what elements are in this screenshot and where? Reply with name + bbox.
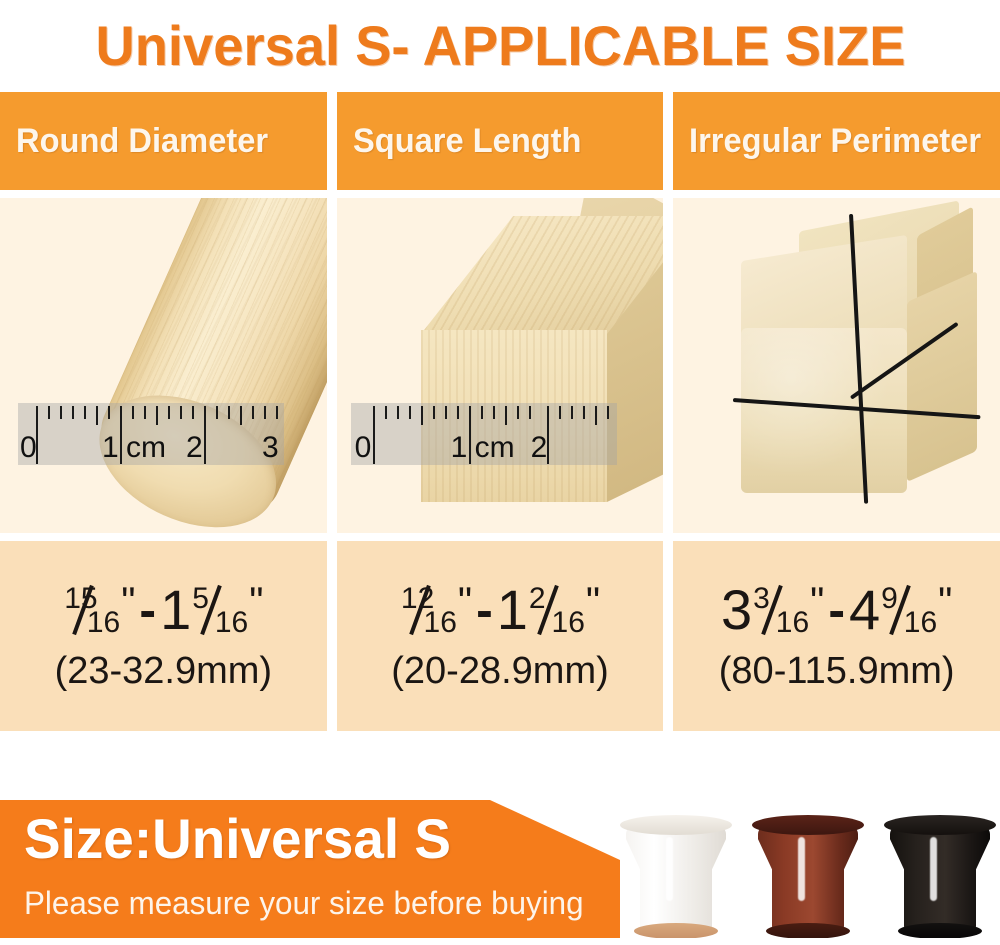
range-dash: -: [476, 585, 493, 635]
page-title: Universal S- APPLICABLE SIZE: [95, 18, 905, 74]
ruler-tick-half: [96, 406, 98, 425]
inch-mark: ": [586, 582, 600, 622]
row-divider: [0, 533, 1000, 541]
ruler-label-cm: cm: [126, 433, 166, 463]
column-divider: [663, 198, 673, 533]
ruler-tick-half: [595, 406, 597, 425]
range-dash: -: [828, 585, 845, 635]
ruler-tick-minor: [517, 406, 519, 419]
ruler-tick-minor: [571, 406, 573, 419]
fraction-denominator: 16: [424, 608, 457, 638]
ruler-tick-minor: [385, 406, 387, 419]
banner-title: Size:Universal S: [24, 811, 451, 867]
ruler-tick-minor: [433, 406, 435, 419]
ruler-tick-half: [421, 406, 423, 425]
fraction-min: 12 16: [401, 582, 455, 638]
ruler-label-2: 2: [186, 433, 203, 463]
cap-rim: [884, 815, 996, 835]
cap-rim: [752, 815, 864, 835]
ruler-tick-minor: [276, 406, 278, 419]
column-header-irregular-perimeter: Irregular Perimeter: [673, 92, 1000, 190]
inch-whole-max: 4: [849, 582, 880, 638]
cap-base: [766, 923, 850, 939]
fraction-min: 3 16: [753, 582, 807, 638]
ruler-tick-minor: [559, 406, 561, 419]
inch-whole-max: 1: [497, 582, 528, 638]
value-cell-square-length: 12 16 " - 1 2 16 " (20-28.9mm): [337, 541, 664, 731]
fraction-max: 2 16: [529, 582, 583, 638]
photo-irregular-perimeter: [673, 198, 1000, 533]
mm-range-square: (20-28.9mm): [391, 652, 609, 690]
cap-highlight: [930, 837, 937, 901]
inch-mark: ": [458, 582, 472, 622]
ruler-tick-minor: [192, 406, 194, 419]
ruler-label-0: 0: [20, 433, 37, 463]
column-header-label: Square Length: [353, 122, 582, 161]
ruler-ticks: [18, 406, 284, 432]
ruler-tick-minor: [409, 406, 411, 419]
ruler-tick-minor: [397, 406, 399, 419]
ruler-tick-minor: [84, 406, 86, 419]
value-cell-irregular-perimeter: 3 3 16 " - 4 9 16 " (80-115.9mm): [673, 541, 1000, 731]
column-divider: [327, 92, 337, 190]
bottom-white-strip: [0, 938, 1000, 945]
ruler-tick-minor: [144, 406, 146, 419]
ruler-tick-minor: [216, 406, 218, 419]
inch-whole-min: 3: [721, 582, 752, 638]
column-header-square-length: Square Length: [337, 92, 664, 190]
cap-base: [898, 923, 982, 939]
ruler-label-1: 1: [451, 433, 468, 463]
ruler-tick-minor: [108, 406, 110, 419]
ruler-tick-minor: [60, 406, 62, 419]
ruler-tick-minor: [228, 406, 230, 419]
fraction-max: 9 16: [881, 582, 935, 638]
inch-range-round: 15 16 " - 1 5 16 ": [63, 582, 263, 638]
clear-chair-leg-cap: [620, 815, 732, 937]
column-header-label: Irregular Perimeter: [689, 122, 981, 161]
fraction-denominator: 16: [215, 608, 248, 638]
round-dowel-image: [80, 198, 326, 533]
cap-rim: [620, 815, 732, 835]
ruler-tick-minor: [583, 406, 585, 419]
cap-base: [634, 923, 718, 939]
irregular-block-image: [721, 208, 971, 508]
ruler-tick-half: [240, 406, 242, 425]
column-divider: [663, 92, 673, 190]
ruler-tick-minor: [264, 406, 266, 419]
ruler-tick-minor: [457, 406, 459, 419]
ruler-tick-minor: [529, 406, 531, 419]
photo-round-diameter: 0 1 cm 2 3: [0, 198, 327, 533]
ruler-tick-minor: [607, 406, 609, 419]
brown-chair-leg-cap: [752, 815, 864, 937]
ruler-overlay-square: 0 1 cm 2: [351, 403, 617, 465]
ruler-label-2: 2: [531, 433, 548, 463]
fraction-numerator: 5: [192, 584, 209, 614]
fraction-max: 5 16: [192, 582, 246, 638]
column-divider: [327, 198, 337, 533]
ruler-tick-minor: [48, 406, 50, 419]
table-header-row: Round Diameter Square Length Irregular P…: [0, 92, 1000, 190]
fraction-numerator: 2: [529, 584, 546, 614]
page-title-bar: Universal S- APPLICABLE SIZE: [0, 0, 1000, 92]
ruler-tick-minor: [493, 406, 495, 419]
ruler-tick-minor: [168, 406, 170, 419]
fraction-denominator: 16: [904, 608, 937, 638]
inch-mark: ": [810, 582, 824, 622]
ruler-label-1: 1: [102, 433, 119, 463]
ruler-ticks: [351, 406, 617, 432]
table-value-row: 15 16 " - 1 5 16 " (23-32.9mm): [0, 541, 1000, 731]
square-post-image: [377, 212, 657, 512]
ruler-tick-half: [156, 406, 158, 425]
column-header-label: Round Diameter: [16, 122, 268, 161]
inch-whole-max: 1: [160, 582, 191, 638]
ruler-tick-minor: [445, 406, 447, 419]
ruler-label-cm: cm: [475, 433, 515, 463]
cap-body: [890, 824, 990, 932]
inch-mark: ": [121, 582, 135, 622]
ruler-numbers: 0 1 cm 2 3: [18, 431, 284, 463]
ruler-tick-minor: [252, 406, 254, 419]
fraction-denominator: 16: [87, 608, 120, 638]
inch-mark: ": [249, 582, 263, 622]
cap-body: [626, 824, 726, 932]
ruler-numbers: 0 1 cm 2: [351, 431, 617, 463]
mm-range-irregular: (80-115.9mm): [719, 652, 955, 690]
block-right-face: [907, 271, 977, 482]
table-photo-row: 0 1 cm 2 3: [0, 198, 1000, 533]
ruler-tick-minor: [72, 406, 74, 419]
cap-highlight: [798, 837, 805, 901]
inch-range-square: 12 16 " - 1 2 16 ": [400, 582, 600, 638]
mm-range-round: (23-32.9mm): [55, 652, 273, 690]
photo-square-length: 0 1 cm 2: [337, 198, 664, 533]
column-divider: [327, 541, 337, 731]
ruler-tick-minor: [481, 406, 483, 419]
ruler-label-3: 3: [262, 433, 279, 463]
fraction-min: 15 16: [64, 582, 118, 638]
fraction-numerator: 9: [881, 584, 898, 614]
fraction-denominator: 16: [776, 608, 809, 638]
fraction-numerator: 3: [753, 584, 770, 614]
black-chair-leg-cap: [884, 815, 996, 937]
cap-highlight: [666, 837, 673, 901]
ruler-tick-minor: [132, 406, 134, 419]
range-dash: -: [139, 585, 156, 635]
value-cell-round-diameter: 15 16 " - 1 5 16 " (23-32.9mm): [0, 541, 327, 731]
fraction-denominator: 16: [552, 608, 585, 638]
product-photos: [612, 801, 1000, 939]
banner-subtitle: Please measure your size before buying: [24, 887, 584, 919]
inch-range-irregular: 3 3 16 " - 4 9 16 ": [721, 582, 952, 638]
applicable-size-table: Round Diameter Square Length Irregular P…: [0, 92, 1000, 731]
column-header-round-diameter: Round Diameter: [0, 92, 327, 190]
row-divider: [0, 190, 1000, 198]
ruler-tick-minor: [180, 406, 182, 419]
bottom-section: Size:Universal S Please measure your siz…: [0, 795, 1000, 945]
ruler-overlay-round: 0 1 cm 2 3: [18, 403, 284, 465]
ruler-label-0: 0: [355, 433, 372, 463]
column-divider: [663, 541, 673, 731]
inch-mark: ": [938, 582, 952, 622]
cap-body: [758, 824, 858, 932]
ruler-tick-half: [505, 406, 507, 425]
